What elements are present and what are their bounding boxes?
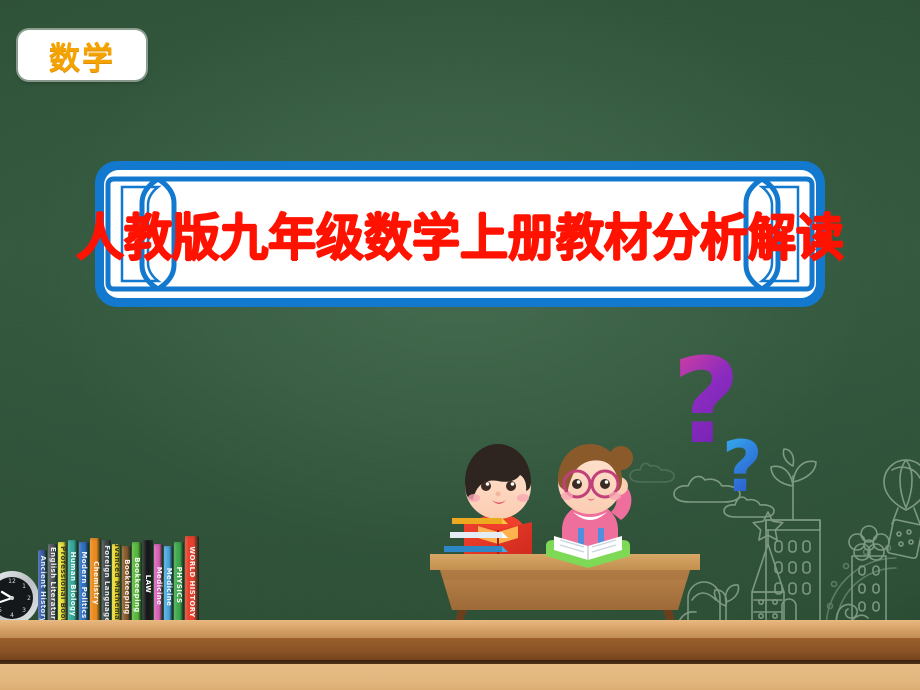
book-spine: Bookkeeping — [132, 542, 142, 628]
svg-text:3: 3 — [22, 607, 26, 614]
floor-surface — [0, 664, 920, 690]
book-title: Foreign Language — [103, 545, 111, 622]
book-spine: Human Biology — [68, 540, 78, 628]
book-title: Medicine — [155, 567, 163, 606]
book-title: Modern Politics — [80, 551, 88, 618]
book-title: PHYSICS — [175, 567, 183, 604]
book-spine: WORLD HISTORY — [185, 536, 199, 628]
book-title: Chemistry — [92, 561, 100, 605]
book-spine: Professional Book — [58, 542, 67, 628]
book-spine: Advanced Mathematics — [112, 544, 121, 628]
book-spine: Bookkeeping — [122, 546, 131, 628]
wall-clock: 121 23 45 6 — [0, 570, 40, 626]
book-title: Bookkeeping — [123, 559, 131, 614]
book-spine: Modern Politics — [79, 542, 89, 628]
stacked-books — [444, 518, 508, 552]
svg-text:2: 2 — [27, 595, 31, 602]
subject-badge[interactable]: 数学 — [18, 30, 146, 80]
book-spine: PHYSICS — [174, 542, 184, 628]
book-title: Human Biology — [69, 552, 77, 617]
students-illustration — [430, 420, 700, 628]
book-spine: English Literature — [48, 544, 57, 628]
book-spine: Medicine — [164, 546, 173, 628]
wooden-desk — [430, 554, 700, 628]
svg-text:4: 4 — [10, 612, 14, 619]
question-mark-small-icon: ? — [722, 432, 763, 502]
book-title: Professional Book — [59, 546, 67, 624]
book-spine: Medicine — [154, 544, 163, 628]
book-title: Advanced Mathematics — [113, 544, 121, 628]
slide-root: ? ? — [0, 0, 920, 690]
book-spine: Chemistry — [90, 538, 101, 628]
book-title: English Literature — [49, 547, 57, 625]
svg-text:12: 12 — [8, 578, 16, 585]
book-title: LAW — [144, 575, 152, 594]
title-text: 人教版九年级数学上册教材分析解读 — [107, 156, 814, 312]
book-spine: Ancient History — [38, 550, 47, 628]
book-spine: LAW — [143, 540, 153, 628]
shelf-ledge-face — [0, 638, 920, 662]
shelf-ledge-top — [0, 620, 920, 638]
bookshelf-books: Ancient HistoryEnglish LiteratureProfess… — [38, 536, 200, 628]
book-title: WORLD HISTORY — [188, 546, 196, 617]
book-title: Bookkeeping — [133, 557, 141, 612]
svg-text:5: 5 — [0, 607, 2, 614]
svg-text:1: 1 — [22, 583, 26, 590]
subject-badge-label: 数学 — [49, 33, 115, 78]
girl-figure — [558, 444, 633, 552]
book-title: Medicine — [165, 568, 173, 607]
title-banner: 人教版九年级数学上册教材分析解读 — [92, 156, 828, 312]
book-spine: Foreign Language — [102, 540, 111, 628]
book-title: Ancient History — [39, 555, 47, 622]
